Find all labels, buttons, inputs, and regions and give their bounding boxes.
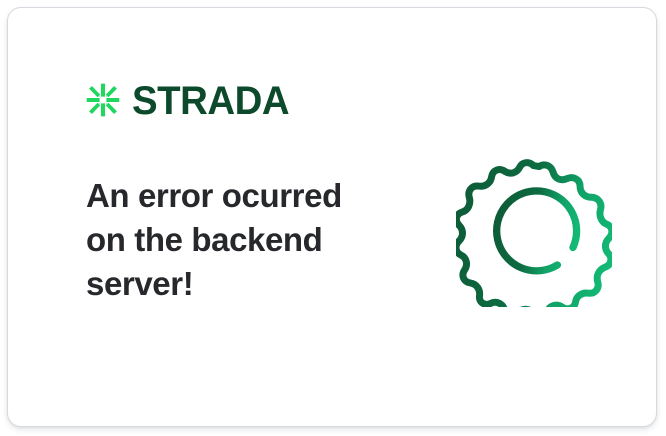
strada-asterisk-icon [86,83,120,117]
gear-illustration [456,149,612,307]
error-message-line-1: An error ocurred [86,177,342,214]
gear-icon [456,149,612,307]
error-screen: STRADA An error ocurred on the backend s… [0,0,666,436]
error-card: STRADA An error ocurred on the backend s… [7,7,657,427]
brand-lockup: STRADA [86,82,296,118]
error-message-line-2: on the backend [86,221,322,258]
brand-wordmark: STRADA [132,81,289,121]
gear-inner-arc [497,191,577,271]
error-message-line-3: server! [86,265,193,302]
gear-teeth-outline [456,163,612,307]
error-message: An error ocurred on the backend server! [86,174,386,306]
